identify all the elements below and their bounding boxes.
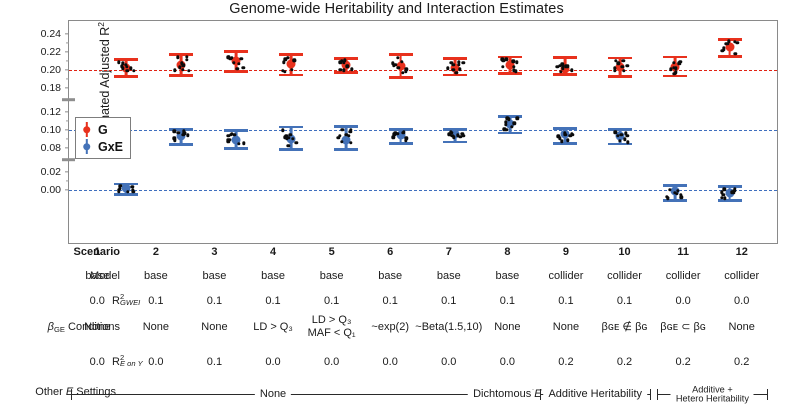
observation-dot [392, 136, 395, 139]
r2-gwei-value-9: 0.1 [558, 295, 573, 308]
axis-break-marker [62, 98, 75, 102]
error-bar-gxe-10 [607, 21, 633, 245]
error-bar-cap-upper [498, 115, 522, 118]
condition-line-1: None [553, 321, 579, 334]
r2-eony-value-9: 0.2 [558, 356, 573, 369]
observation-dot [510, 125, 513, 128]
condition-value-8: None [494, 321, 520, 334]
scenario-value-2: 2 [153, 246, 159, 259]
observation-dot [462, 134, 465, 137]
condition-line-1: None [143, 321, 169, 334]
row-header-r2-gwei: R2GWEI [0, 295, 126, 307]
other-e-bracket-2: Additive Heritability [540, 389, 651, 400]
observation-dot [347, 134, 350, 137]
observation-dot [459, 135, 462, 138]
error-bar-gxe-8 [497, 21, 523, 245]
y-tick-label: 0.00 [23, 184, 69, 196]
r2-eony-value-10: 0.2 [617, 356, 632, 369]
error-bar-gxe-6 [388, 21, 414, 245]
other-e-bracket-0: None [71, 389, 475, 400]
y-tick-minor [66, 120, 69, 121]
r2-gwei-value-10: 0.1 [617, 295, 632, 308]
condition-value-6: ~exp(2) [371, 321, 409, 334]
model-value-4: base [261, 270, 285, 283]
model-value-10: collider [607, 270, 642, 283]
observation-dot [173, 130, 176, 133]
condition-line-1: LD > Q₃ [308, 314, 356, 327]
condition-line-1: βɢᴇ ∉ βɢ [602, 321, 648, 334]
y-tick-mark [65, 51, 70, 52]
condition-value-5: LD > Q₃MAF < Q₁ [308, 314, 356, 339]
y-tick-label: 0.10 [23, 124, 69, 136]
error-bar-gxe-11 [662, 21, 688, 245]
observation-dot [349, 141, 352, 144]
condition-value-10: βɢᴇ ∉ βɢ [602, 321, 648, 334]
conditions-table: Scenario 123456789101112 Model basebaseb… [0, 246, 793, 412]
error-bar-gxe-4 [278, 21, 304, 245]
model-value-12: collider [724, 270, 759, 283]
condition-line-1: LD > Q₃ [253, 321, 293, 334]
r2-gwei-value-7: 0.1 [441, 295, 456, 308]
y-tick-mark [65, 33, 70, 34]
y-tick-label: 0.12 [23, 106, 69, 118]
scenario-value-10: 10 [618, 246, 630, 259]
error-bar-gxe-3 [223, 21, 249, 245]
r2-gwei-value-11: 0.0 [675, 295, 690, 308]
r2-eony-value-5: 0.0 [324, 356, 339, 369]
scenario-value-7: 7 [446, 246, 452, 259]
y-tick-minor [66, 60, 69, 61]
legend-marker-g-icon [80, 122, 93, 137]
error-bar-cap-lower [498, 132, 522, 135]
model-value-2: base [144, 270, 168, 283]
error-bar-cap-lower [169, 143, 193, 146]
error-bar-cap-lower [334, 148, 358, 151]
scenario-value-12: 12 [736, 246, 748, 259]
error-bar-gxe-12 [717, 21, 743, 245]
condition-line-2: MAF < Q₁ [308, 327, 356, 340]
observation-dot [515, 117, 518, 120]
other-e-bracket-3: Additive +Hetero Heritability [657, 389, 768, 400]
model-value-8: base [495, 270, 519, 283]
r2-eony-value-4: 0.0 [265, 356, 280, 369]
r2-eony-value-8: 0.0 [500, 356, 515, 369]
scenario-value-3: 3 [211, 246, 217, 259]
condition-line-1: ~exp(2) [371, 321, 409, 334]
error-bar-cap-lower [279, 148, 303, 151]
r2-eony-value-2: 0.0 [148, 356, 163, 369]
condition-value-3: None [201, 321, 227, 334]
scenario-value-1: 1 [94, 246, 100, 259]
observation-dot [237, 142, 240, 145]
other-e-bracket-label: Additive +Hetero Heritability [671, 385, 754, 404]
condition-value-7: ~Beta(1.5,10) [415, 321, 482, 334]
condition-line-1: None [494, 321, 520, 334]
error-bar-cap-lower [224, 147, 248, 150]
observation-dot [173, 139, 176, 142]
error-bar-gxe-7 [442, 21, 468, 245]
r2-eony-value-6: 0.0 [383, 356, 398, 369]
row-header-scenario: Scenario [0, 246, 126, 258]
condition-line-1: None [84, 321, 110, 334]
axis-break-marker [62, 158, 75, 162]
scenario-value-4: 4 [270, 246, 276, 259]
y-tick-label: 0.22 [23, 46, 69, 58]
other-e-bracket-1: Dichtomous E [481, 389, 534, 400]
model-value-1: base [85, 270, 109, 283]
condition-line-1: None [201, 321, 227, 334]
scenario-value-5: 5 [329, 246, 335, 259]
condition-value-9: None [553, 321, 579, 334]
condition-line-1: βɢᴇ ⊂ βɢ [660, 321, 706, 334]
y-tick-label: 0.02 [23, 166, 69, 178]
r2-gwei-value-5: 0.1 [324, 295, 339, 308]
r2-gwei-value-12: 0.0 [734, 295, 749, 308]
r2-gwei-value-1: 0.0 [90, 295, 105, 308]
y-tick-mark [65, 87, 70, 88]
condition-line-1: ~Beta(1.5,10) [415, 321, 482, 334]
y-tick-label: 0.18 [23, 82, 69, 94]
legend-entry-gxe: GxE [80, 138, 123, 155]
y-tick-minor [66, 180, 69, 181]
r2-gwei-value-2: 0.1 [148, 295, 163, 308]
error-bar-cap-lower [389, 142, 413, 145]
y-tick-mark [65, 111, 70, 112]
scenario-value-11: 11 [677, 246, 689, 259]
other-e-bracket-label: None [255, 389, 291, 401]
observation-dot [294, 141, 297, 144]
observation-dot [349, 130, 352, 133]
scenario-value-9: 9 [563, 246, 569, 259]
condition-value-1: None [84, 321, 110, 334]
model-value-6: base [378, 270, 402, 283]
r2-gwei-value-8: 0.1 [500, 295, 515, 308]
figure-root: Genome-wide Heritability and Interaction… [0, 0, 793, 412]
y-tick-label: 0.24 [23, 28, 69, 40]
chart-legend: G GxE [75, 117, 131, 159]
legend-label-gxe: GxE [98, 140, 123, 154]
y-tick-label: 0.08 [23, 142, 69, 154]
r2-gwei-value-6: 0.1 [383, 295, 398, 308]
error-bar-cap-upper [334, 125, 358, 128]
r2-eony-value-12: 0.2 [734, 356, 749, 369]
legend-entry-g: G [80, 121, 123, 138]
model-value-5: base [320, 270, 344, 283]
other-e-bracket-label: Additive Heritability [543, 389, 647, 401]
error-bar-gxe-5 [333, 21, 359, 245]
y-tick-mark [65, 147, 70, 148]
y-tick-minor [66, 138, 69, 139]
condition-value-12: None [729, 321, 755, 334]
error-bar-gxe-2 [168, 21, 194, 245]
r2-eony-value-3: 0.1 [207, 356, 222, 369]
error-bar-cap-lower [553, 142, 577, 145]
y-tick-minor [66, 78, 69, 79]
observation-dot [338, 134, 341, 137]
legend-label-g: G [98, 123, 108, 137]
y-tick-label: 0.20 [23, 64, 69, 76]
error-bar-gxe-9 [552, 21, 578, 245]
page-title: Genome-wide Heritability and Interaction… [0, 1, 793, 17]
model-value-7: base [437, 270, 461, 283]
r2-eony-value-7: 0.0 [441, 356, 456, 369]
model-value-3: base [203, 270, 227, 283]
error-bar-cap-lower [443, 141, 467, 144]
r2-gwei-value-4: 0.1 [265, 295, 280, 308]
y-tick-minor [66, 42, 69, 43]
legend-marker-gxe-icon [80, 139, 93, 154]
observation-dot [626, 134, 629, 137]
other-e-bracket-label: Dichtomous E [468, 389, 546, 401]
row-header-r2-eony: R2E on Y [0, 356, 126, 368]
observation-dot [281, 129, 284, 132]
y-tick-mark [65, 171, 70, 172]
observation-dot [186, 134, 189, 137]
model-value-9: collider [549, 270, 584, 283]
observation-dot [513, 122, 516, 125]
error-bar-cap-lower [718, 199, 742, 202]
scenario-value-8: 8 [504, 246, 510, 259]
plot-area: Estimated Adjusted R2 0.240.220.200.180.… [68, 20, 778, 244]
condition-value-4: LD > Q₃ [253, 321, 293, 334]
r2-eony-value-11: 0.2 [675, 356, 690, 369]
scenario-value-6: 6 [387, 246, 393, 259]
condition-value-2: None [143, 321, 169, 334]
r2-eony-value-1: 0.0 [90, 356, 105, 369]
error-bar-cap-upper [224, 129, 248, 132]
r2-gwei-value-3: 0.1 [207, 295, 222, 308]
model-value-11: collider [666, 270, 701, 283]
condition-value-11: βɢᴇ ⊂ βɢ [660, 321, 706, 334]
condition-line-1: None [729, 321, 755, 334]
observation-dot [242, 141, 245, 144]
